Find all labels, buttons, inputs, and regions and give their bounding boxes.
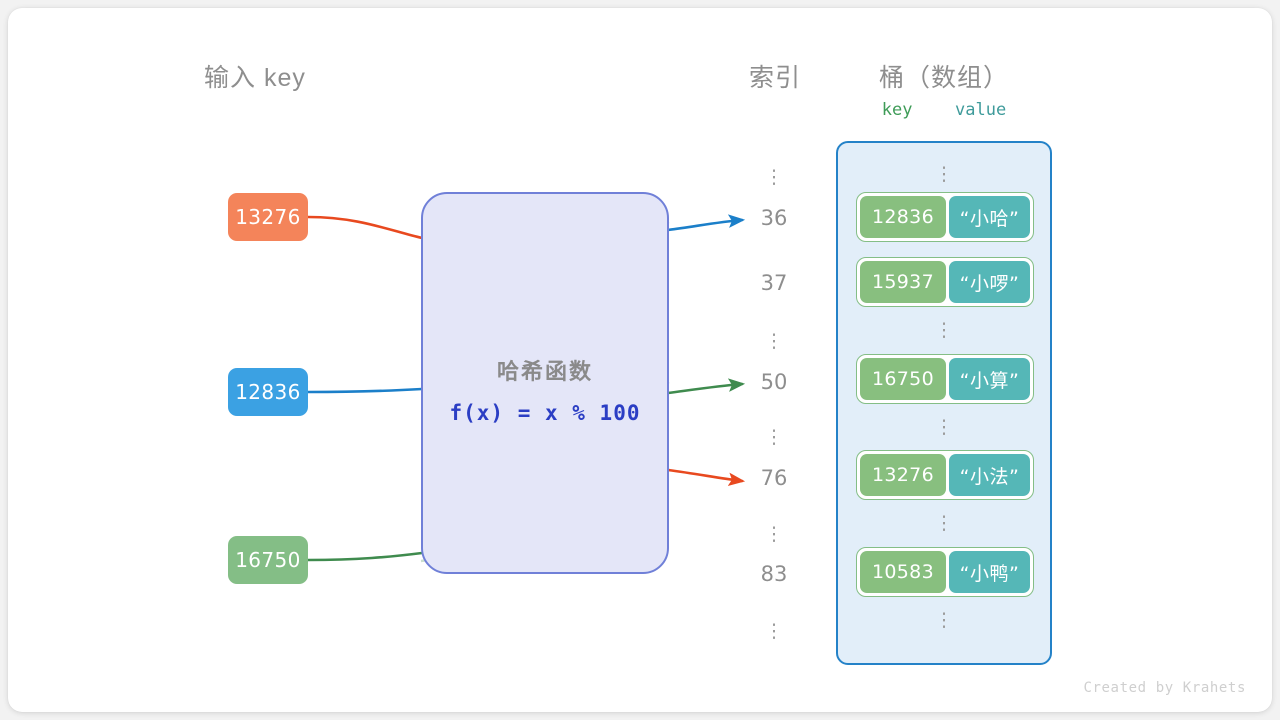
arrow-to-76 (668, 470, 742, 481)
index-dots: ⋮ (746, 332, 802, 351)
pair-value: “小算” (949, 358, 1030, 400)
arrow-to-50 (668, 384, 742, 393)
curve-13276 (308, 217, 422, 238)
pair-value: “小啰” (949, 261, 1030, 303)
pair-key: 16750 (860, 358, 946, 400)
header-key: key (882, 100, 913, 120)
index-item-37[interactable]: 37 (746, 271, 802, 295)
hash-function-box: 哈希函数 f(x) = x % 100 (421, 192, 669, 574)
bucket-array: ⋮ 12836 “小哈” 15937 “小啰” ⋮ 16750 “小算” ⋮ 1… (836, 141, 1052, 665)
credit-label: Created by Krahets (1083, 680, 1246, 696)
pair-key: 10583 (860, 551, 946, 593)
pair-value: “小法” (949, 454, 1030, 496)
hash-function-title: 哈希函数 (423, 354, 667, 386)
header-value: value (955, 100, 1006, 120)
input-key-12836[interactable]: 12836 (228, 368, 308, 416)
bucket-pair-13276[interactable]: 13276 “小法” (856, 450, 1034, 500)
index-item-36[interactable]: 36 (746, 206, 802, 230)
bucket-pair-16750[interactable]: 16750 “小算” (856, 354, 1034, 404)
pair-value: “小鸭” (949, 551, 1030, 593)
bucket-dots: ⋮ (838, 321, 1050, 340)
bucket-pair-10583[interactable]: 10583 “小鸭” (856, 547, 1034, 597)
index-item-76[interactable]: 76 (746, 466, 802, 490)
bucket-dots: ⋮ (838, 611, 1050, 630)
curve-16750 (308, 553, 422, 560)
pair-key: 13276 (860, 454, 946, 496)
pair-value: “小哈” (949, 196, 1030, 238)
diagram-canvas: 输入 key 索引 桶（数组） key value 13276 12836 16… (8, 8, 1272, 712)
index-item-50[interactable]: 50 (746, 370, 802, 394)
bucket-pair-15937[interactable]: 15937 “小啰” (856, 257, 1034, 307)
hash-function-formula: f(x) = x % 100 (423, 401, 667, 425)
arrow-to-36 (668, 220, 742, 230)
curve-12836 (308, 389, 422, 392)
input-key-16750[interactable]: 16750 (228, 536, 308, 584)
index-dots: ⋮ (746, 428, 802, 447)
header-index: 索引 (745, 58, 805, 94)
bucket-dots: ⋮ (838, 165, 1050, 184)
bucket-pair-12836[interactable]: 12836 “小哈” (856, 192, 1034, 242)
pair-key: 12836 (860, 196, 946, 238)
bucket-dots: ⋮ (838, 514, 1050, 533)
pair-key: 15937 (860, 261, 946, 303)
index-item-83[interactable]: 83 (746, 562, 802, 586)
header-input-key: 输入 key (204, 58, 306, 94)
header-bucket: 桶（数组） (828, 58, 1060, 94)
index-dots: ⋮ (746, 168, 802, 187)
bucket-dots: ⋮ (838, 418, 1050, 437)
header-key-value: key value (828, 100, 1060, 120)
index-dots: ⋮ (746, 525, 802, 544)
input-key-13276[interactable]: 13276 (228, 193, 308, 241)
index-dots: ⋮ (746, 622, 802, 641)
